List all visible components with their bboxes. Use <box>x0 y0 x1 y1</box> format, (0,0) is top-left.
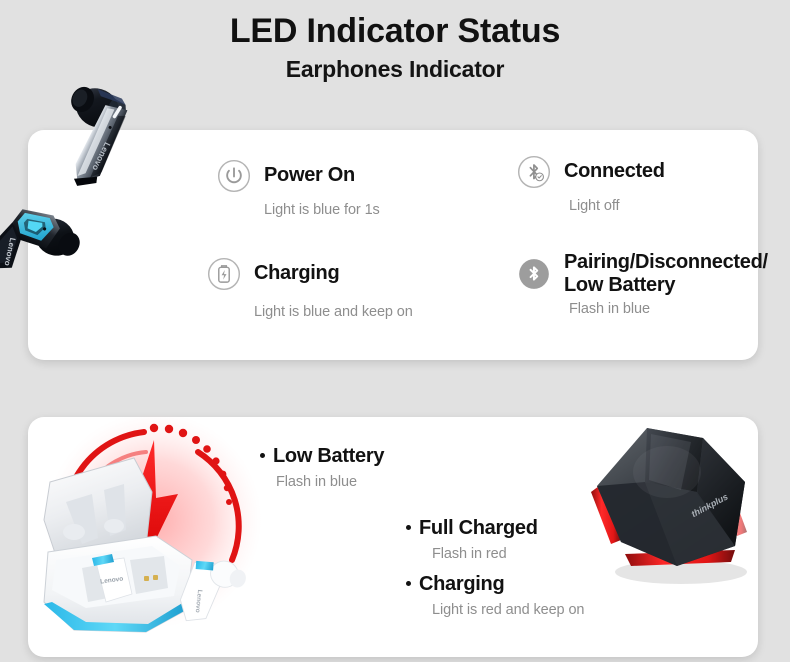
battery-charging-icon <box>206 256 242 292</box>
indicator-head: Connected <box>516 154 766 190</box>
bluetooth-connected-icon <box>516 154 552 190</box>
bullet-label-text: Charging <box>419 573 504 595</box>
indicator-label: Connected <box>564 160 665 183</box>
indicator-item-connected: Connected Light off <box>516 154 766 214</box>
bullet-label: Charging <box>406 573 584 596</box>
earphones-indicator-card: Power On Light is blue for 1s Connected … <box>28 130 758 360</box>
bullet-sub: Flash in red <box>432 546 538 562</box>
indicator-head: Pairing/Disconnected/ Low Battery <box>516 251 766 297</box>
indicator-item-power-on: Power On Light is blue for 1s <box>216 158 486 218</box>
bullet-sub: Flash in blue <box>276 474 384 490</box>
indicator-sub: Light is blue and keep on <box>254 304 486 320</box>
indicator-label: Power On <box>264 164 355 187</box>
earphones-indicator-grid: Power On Light is blue for 1s Connected … <box>188 146 748 346</box>
bullet-label: Full Charged <box>406 517 538 540</box>
earphones-section-heading: Earphones Indicator <box>0 56 790 82</box>
power-icon <box>216 158 252 194</box>
bullet-item-full-charged: Full Charged Flash in red <box>406 517 538 562</box>
indicator-head: Charging <box>206 256 486 292</box>
bullet-item-low-battery: Low Battery Flash in blue <box>260 445 384 490</box>
svg-text:Lenovo: Lenovo <box>2 237 17 267</box>
indicator-label-line2: Low Battery <box>564 274 768 297</box>
bullet-label-text: Full Charged <box>419 517 538 539</box>
indicator-label-line1: Pairing/Disconnected/ <box>564 251 768 274</box>
charging-case-indicator-card: Low Battery Flash in blue Full Charged F… <box>28 417 758 657</box>
indicator-head: Power On <box>216 158 486 194</box>
indicator-item-pairing: Pairing/Disconnected/ Low Battery Flash … <box>516 251 766 317</box>
indicator-label: Charging <box>254 262 339 285</box>
indicator-sub: Light is blue for 1s <box>264 202 486 218</box>
bullet-dot <box>406 525 411 530</box>
indicator-item-charging: Charging Light is blue and keep on <box>206 256 486 320</box>
bullet-dot <box>260 453 265 458</box>
indicator-sub: Flash in blue <box>569 301 766 317</box>
bullet-label: Low Battery <box>260 445 384 468</box>
bullet-dot <box>406 581 411 586</box>
indicator-sub: Light off <box>569 198 766 214</box>
bluetooth-filled-icon <box>516 256 552 292</box>
page-title: LED Indicator Status <box>0 12 790 50</box>
bullet-item-charging: Charging Light is red and keep on <box>406 573 584 618</box>
bullet-label-text: Low Battery <box>273 445 384 467</box>
bullet-sub: Light is red and keep on <box>432 602 584 618</box>
